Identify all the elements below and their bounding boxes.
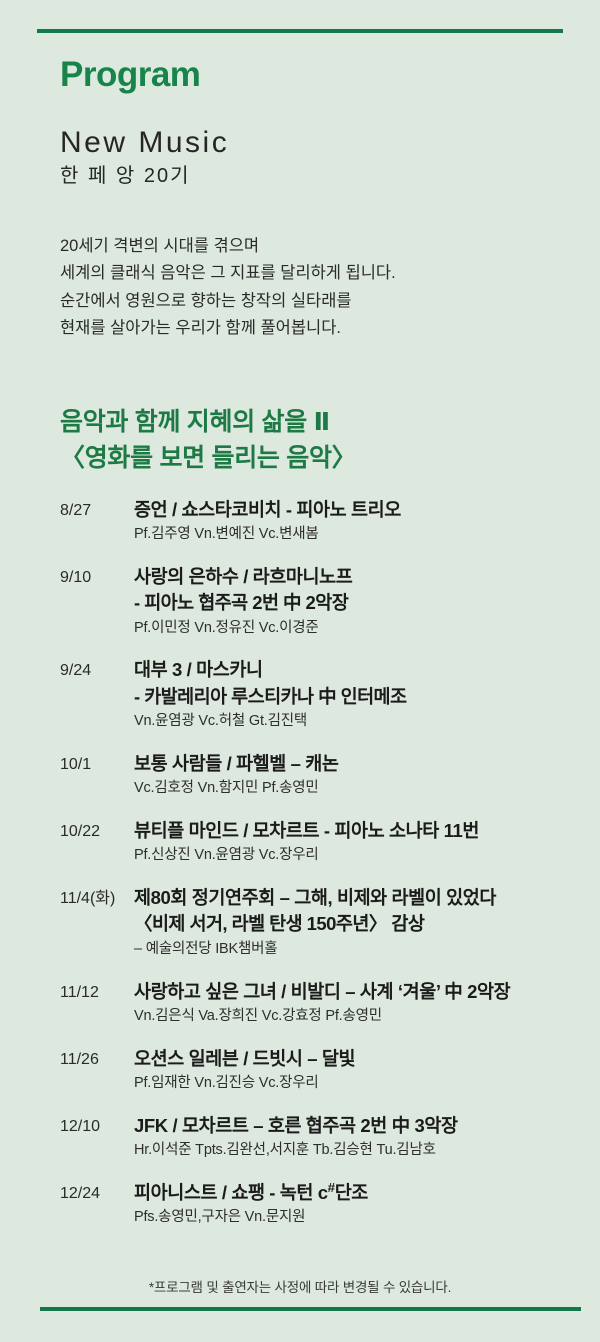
list-item: 12/24 피아니스트 / 쇼팽 - 녹턴 c#단조 Pfs.송영민,구자은 V…	[60, 1180, 585, 1229]
entry-performers: Pf.김주영 Vn.변예진 Vc.변새봄	[134, 523, 585, 546]
entry-title-continuation: - 피아노 협주곡 2번 中 2악장	[134, 590, 585, 616]
entry-title: 제80회 정기연주회 – 그해, 비제와 라벨이 있었다	[134, 885, 585, 911]
entry-performers: Pf.임재한 Vn.김진승 Vc.장우리	[134, 1072, 585, 1095]
entry-body: 오션스 일레븐 / 드빗시 – 달빛 Pf.임재한 Vn.김진승 Vc.장우리	[134, 1046, 585, 1095]
section-heading: 음악과 함께 지혜의 삶을 Ⅱ 〈영화를 보면 들리는 음악〉	[60, 405, 570, 476]
entry-performers: Vc.김호정 Vn.함지민 Pf.송영민	[134, 777, 585, 800]
entry-title-pre: 피아니스트 / 쇼팽 - 녹턴 c	[134, 1182, 328, 1203]
entry-body: JFK / 모차르트 – 호른 협주곡 2번 中 3악장 Hr.이석준 Tpts…	[134, 1113, 585, 1162]
entry-body: 제80회 정기연주회 – 그해, 비제와 라벨이 있었다 〈비제 서거, 라벨 …	[134, 885, 585, 961]
entry-title-continuation: - 카발레리아 루스티카나 中 인터메조	[134, 684, 585, 710]
entry-title: JFK / 모차르트 – 호른 협주곡 2번 中 3악장	[134, 1113, 585, 1139]
entry-title: 뷰티플 마인드 / 모차르트 - 피아노 소나타 11번	[134, 818, 585, 844]
intro-line-2: 세계의 클래식 음악은 그 지표를 달리하게 됩니다.	[60, 260, 560, 287]
entry-performers: Pfs.송영민,구자은 Vn.문지원	[134, 1206, 585, 1229]
list-item: 11/12 사랑하고 싶은 그녀 / 비발디 – 사계 ‘겨울’ 中 2악장 V…	[60, 979, 585, 1028]
entry-performers: Pf.이민정 Vn.정유진 Vc.이경준	[134, 617, 585, 640]
entry-performers: Hr.이석준 Tpts.김완선,서지훈 Tb.김승현 Tu.김남호	[134, 1139, 585, 1162]
entry-body: 보통 사람들 / 파헬벨 – 캐논 Vc.김호정 Vn.함지민 Pf.송영민	[134, 751, 585, 800]
program-list: 8/27 증언 / 쇼스타코비치 - 피아노 트리오 Pf.김주영 Vn.변예진…	[60, 497, 585, 1247]
concert-subtitle: 한 페 앙 20기	[60, 160, 560, 188]
entry-date: 8/27	[60, 497, 134, 522]
footnote: *프로그램 및 출연자는 사정에 따라 변경될 수 있습니다.	[0, 1276, 600, 1296]
list-item: 9/24 대부 3 / 마스카니 - 카발레리아 루스티카나 中 인터메조 Vn…	[60, 657, 585, 732]
sharp-symbol: #	[328, 1180, 335, 1195]
intro-line-4: 현재를 살아가는 우리가 함께 풀어봅니다.	[60, 315, 560, 342]
poster-header: Program New Music 한 페 앙 20기	[60, 56, 560, 188]
entry-date: 12/10	[60, 1113, 134, 1138]
entry-date: 10/1	[60, 751, 134, 776]
section-heading-line-1: 음악과 함께 지혜의 삶을 Ⅱ	[60, 405, 570, 441]
entry-date: 9/10	[60, 564, 134, 589]
intro-line-3: 순간에서 영원으로 향하는 창작의 실타래를	[60, 288, 560, 315]
intro-paragraph: 20세기 격변의 시대를 겪으며 세계의 클래식 음악은 그 지표를 달리하게 …	[60, 233, 560, 343]
entry-title: 사랑하고 싶은 그녀 / 비발디 – 사계 ‘겨울’ 中 2악장	[134, 979, 585, 1005]
bottom-divider-rule	[40, 1307, 581, 1311]
top-divider-rule	[37, 29, 563, 33]
page-title: Program	[60, 56, 560, 95]
list-item: 11/4(화) 제80회 정기연주회 – 그해, 비제와 라벨이 있었다 〈비제…	[60, 885, 585, 961]
entry-date: 12/24	[60, 1180, 134, 1205]
list-item: 9/10 사랑의 은하수 / 라흐마니노프 - 피아노 협주곡 2번 中 2악장…	[60, 564, 585, 639]
entry-date: 11/4(화)	[60, 885, 134, 910]
entry-title: 사랑의 은하수 / 라흐마니노프	[134, 564, 585, 590]
entry-title: 대부 3 / 마스카니	[134, 657, 585, 683]
list-item: 8/27 증언 / 쇼스타코비치 - 피아노 트리오 Pf.김주영 Vn.변예진…	[60, 497, 585, 546]
entry-date: 10/22	[60, 818, 134, 843]
list-item: 10/22 뷰티플 마인드 / 모차르트 - 피아노 소나타 11번 Pf.신상…	[60, 818, 585, 867]
entry-title: 증언 / 쇼스타코비치 - 피아노 트리오	[134, 497, 585, 523]
entry-body: 뷰티플 마인드 / 모차르트 - 피아노 소나타 11번 Pf.신상진 Vn.윤…	[134, 818, 585, 867]
section-heading-line-2: 〈영화를 보면 들리는 음악〉	[60, 441, 570, 477]
entry-title: 보통 사람들 / 파헬벨 – 캐논	[134, 751, 585, 777]
entry-title: 피아니스트 / 쇼팽 - 녹턴 c#단조	[134, 1180, 585, 1206]
concert-title: New Music	[60, 95, 560, 161]
entry-venue: – 예술의전당 IBK챔버홀	[134, 937, 585, 961]
entry-body: 사랑의 은하수 / 라흐마니노프 - 피아노 협주곡 2번 中 2악장 Pf.이…	[134, 564, 585, 639]
entry-performers: Pf.신상진 Vn.윤염광 Vc.장우리	[134, 844, 585, 867]
entry-date: 11/12	[60, 979, 134, 1004]
entry-date: 9/24	[60, 657, 134, 682]
entry-performers: Vn.윤염광 Vc.허철 Gt.김진택	[134, 710, 585, 733]
entry-date: 11/26	[60, 1046, 134, 1071]
list-item: 10/1 보통 사람들 / 파헬벨 – 캐논 Vc.김호정 Vn.함지민 Pf.…	[60, 751, 585, 800]
entry-body: 피아니스트 / 쇼팽 - 녹턴 c#단조 Pfs.송영민,구자은 Vn.문지원	[134, 1180, 585, 1229]
intro-line-1: 20세기 격변의 시대를 겪으며	[60, 233, 560, 260]
entry-title-continuation: 〈비제 서거, 라벨 탄생 150주년〉 감상	[134, 911, 585, 937]
list-item: 11/26 오션스 일레븐 / 드빗시 – 달빛 Pf.임재한 Vn.김진승 V…	[60, 1046, 585, 1095]
entry-title: 오션스 일레븐 / 드빗시 – 달빛	[134, 1046, 585, 1072]
entry-title-post: 단조	[335, 1182, 368, 1203]
entry-body: 사랑하고 싶은 그녀 / 비발디 – 사계 ‘겨울’ 中 2악장 Vn.김은식 …	[134, 979, 585, 1028]
entry-body: 증언 / 쇼스타코비치 - 피아노 트리오 Pf.김주영 Vn.변예진 Vc.변…	[134, 497, 585, 546]
entry-body: 대부 3 / 마스카니 - 카발레리아 루스티카나 中 인터메조 Vn.윤염광 …	[134, 657, 585, 732]
program-poster: Program New Music 한 페 앙 20기 20세기 격변의 시대를…	[0, 0, 600, 1342]
entry-performers: Vn.김은식 Va.장희진 Vc.강효정 Pf.송영민	[134, 1005, 585, 1028]
list-item: 12/10 JFK / 모차르트 – 호른 협주곡 2번 中 3악장 Hr.이석…	[60, 1113, 585, 1162]
